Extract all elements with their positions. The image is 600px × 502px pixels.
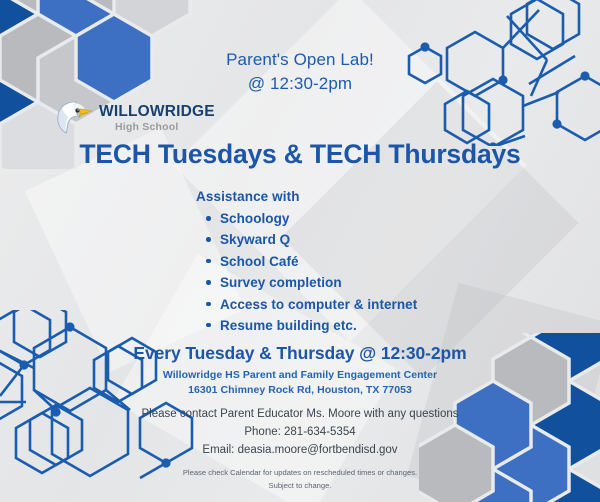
fineprint-block: Please check Calendar for updates on res… <box>0 467 600 492</box>
list-item: Resume building etc. <box>220 315 417 336</box>
venue-location-name: Willowridge HS Parent and Family Engagem… <box>0 369 600 381</box>
venue-block: Every Tuesday & Thursday @ 12:30-2pm Wil… <box>0 343 600 396</box>
assistance-block: Assistance with Schoology Skyward Q Scho… <box>196 189 417 336</box>
contact-instruction: Please contact Parent Educator Ms. Moore… <box>0 405 600 423</box>
fineprint-line-2: Subject to change. <box>0 480 600 493</box>
fineprint-line-1: Please check Calendar for updates on res… <box>0 467 600 480</box>
kicker-line-2: @ 12:30-2pm <box>0 72 600 96</box>
venue-schedule: Every Tuesday & Thursday @ 12:30-2pm <box>0 343 600 364</box>
flyer-canvas: Parent's Open Lab! @ 12:30-2pm WILLOWRID… <box>0 0 600 502</box>
assistance-list: Schoology Skyward Q School Café Survey c… <box>196 208 417 336</box>
list-item: School Café <box>220 251 417 272</box>
list-item: Schoology <box>220 208 417 229</box>
contact-email: Email: deasia.moore@fortbendisd.gov <box>0 441 600 459</box>
school-logo: WILLOWRIDGE High School <box>54 98 215 136</box>
flyer-content: Parent's Open Lab! @ 12:30-2pm WILLOWRID… <box>0 0 600 502</box>
kicker-block: Parent's Open Lab! @ 12:30-2pm <box>0 48 600 96</box>
venue-address: 16301 Chimney Rock Rd, Houston, TX 77053 <box>0 384 600 396</box>
assistance-heading: Assistance with <box>196 189 417 204</box>
contact-phone: Phone: 281-634-5354 <box>0 423 600 441</box>
page-title: TECH Tuesdays & TECH Thursdays <box>0 139 600 170</box>
logo-school-name: WILLOWRIDGE <box>99 104 215 120</box>
list-item: Skyward Q <box>220 229 417 250</box>
contact-block: Please contact Parent Educator Ms. Moore… <box>0 405 600 459</box>
eagle-head-icon <box>54 98 94 136</box>
logo-wordmark: WILLOWRIDGE High School <box>99 102 215 132</box>
list-item: Access to computer & internet <box>220 294 417 315</box>
kicker-line-1: Parent's Open Lab! <box>0 48 600 72</box>
list-item: Survey completion <box>220 272 417 293</box>
logo-school-subtitle: High School <box>115 122 215 133</box>
